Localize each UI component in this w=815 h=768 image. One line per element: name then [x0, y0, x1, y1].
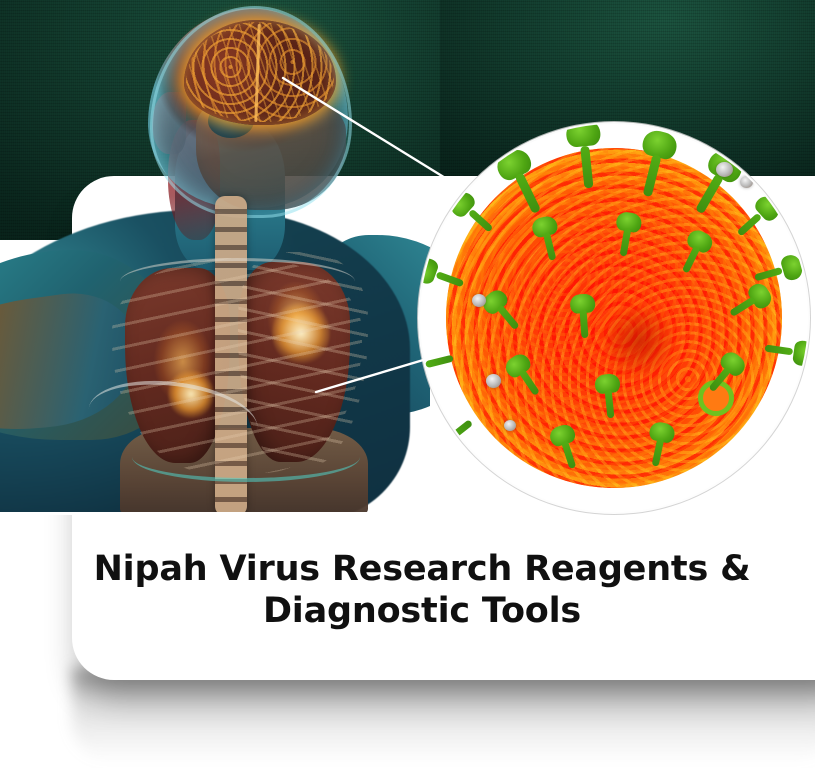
- virus-inset-circle: [420, 124, 808, 512]
- skull-outline: [150, 6, 352, 218]
- virus-spike: [565, 124, 606, 190]
- virus-spike: [593, 373, 623, 419]
- virus-spike: [569, 293, 598, 339]
- virus-surface-fleck: [504, 420, 516, 431]
- virus-surface-fleck: [716, 162, 733, 177]
- anatomy-illustration: [0, 0, 430, 515]
- clavicle: [120, 258, 355, 305]
- page-title-line-2: Diagnostic Tools: [72, 590, 772, 632]
- virus-surface-fleck: [740, 176, 753, 188]
- virus-surface-fleck: [486, 374, 501, 388]
- illustration-bottom-crop: [0, 512, 430, 515]
- virus-core: [596, 298, 682, 384]
- banner-root: Nipah Virus Research Reagents & Diagnost…: [0, 0, 815, 768]
- virus-spike: [420, 345, 456, 382]
- page-title: Nipah Virus Research Reagents & Diagnost…: [72, 548, 772, 632]
- card-drop-shadow: [72, 668, 815, 763]
- page-title-line-1: Nipah Virus Research Reagents &: [72, 548, 772, 590]
- virus-surface-fleck: [472, 294, 486, 307]
